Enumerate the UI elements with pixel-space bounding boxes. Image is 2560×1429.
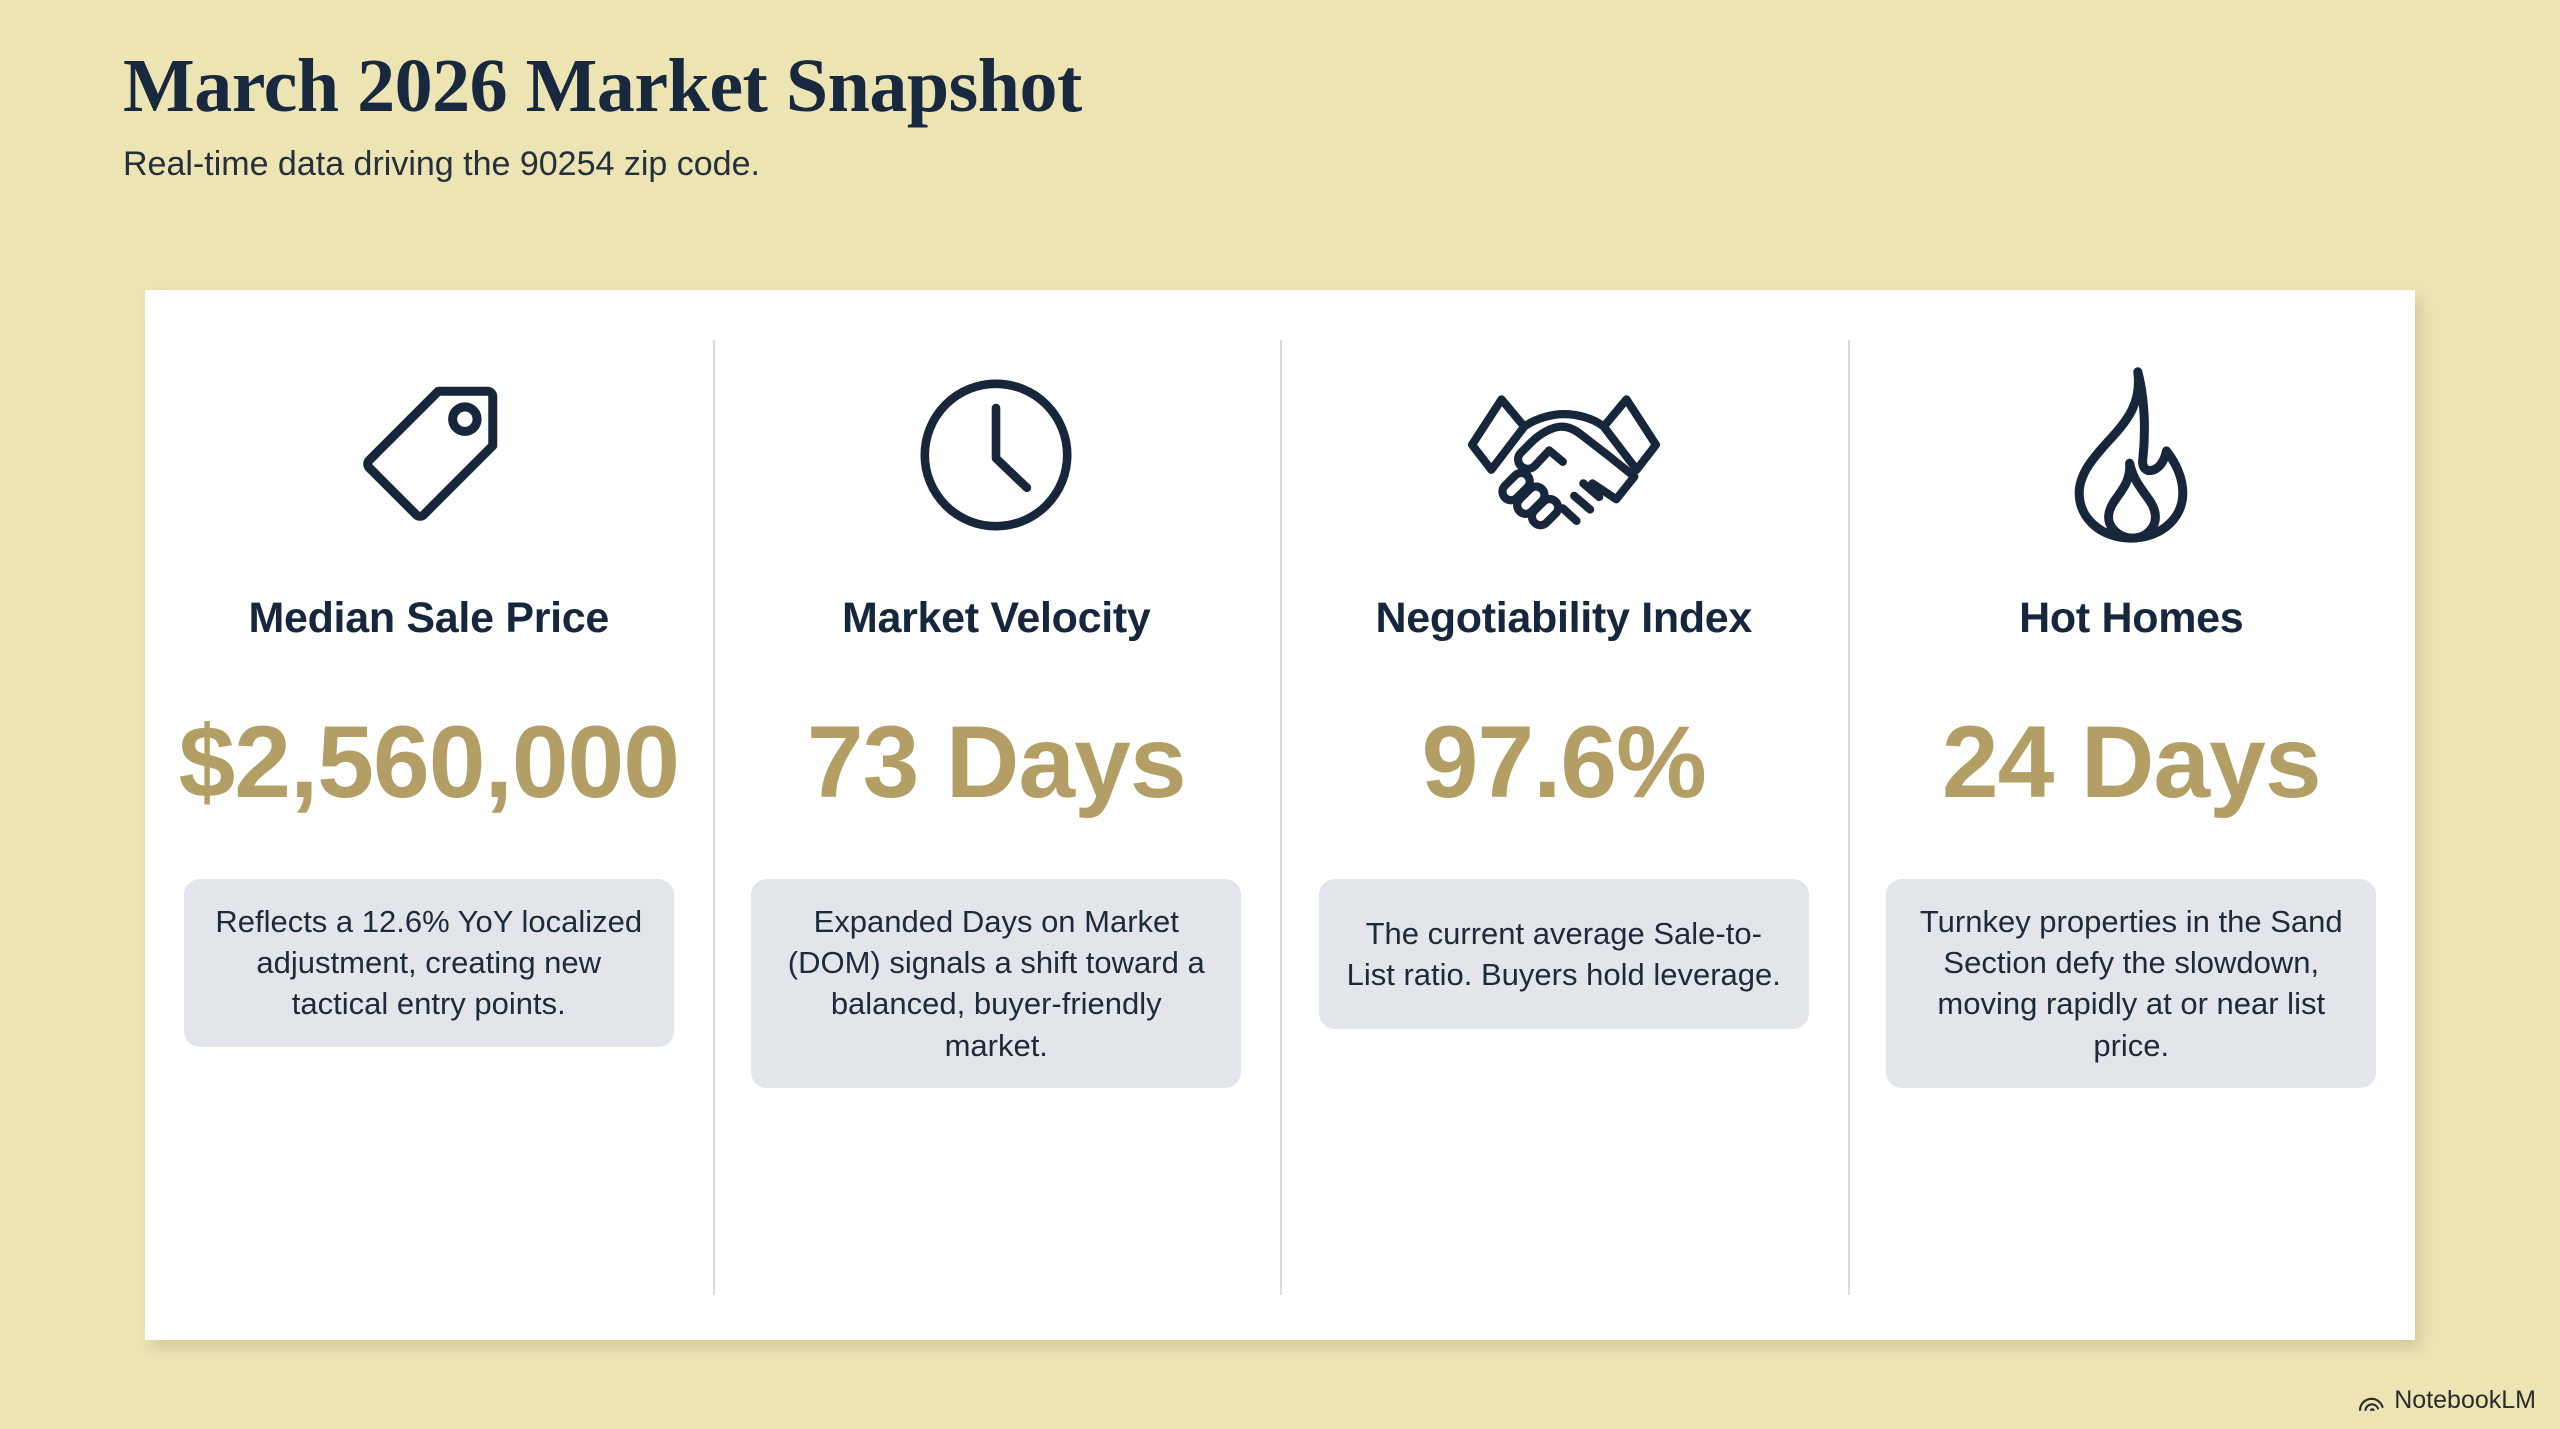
page-title: March 2026 Market Snapshot <box>123 48 1723 124</box>
metric-label: Market Velocity <box>842 594 1151 643</box>
metric-card-hot-homes: Hot Homes 24 Days Turnkey properties in … <box>1848 290 2416 1340</box>
price-tag-icon <box>344 350 514 560</box>
page-subtitle: Real-time data driving the 90254 zip cod… <box>123 144 1723 185</box>
metric-card-median-sale-price: Median Sale Price $2,560,000 Reflects a … <box>145 290 713 1340</box>
notebooklm-logo-icon <box>2358 1390 2385 1412</box>
handshake-icon <box>1455 350 1673 560</box>
metric-label: Negotiability Index <box>1375 594 1752 643</box>
notebooklm-label: NotebookLM <box>2394 1386 2536 1415</box>
metric-caption: The current average Sale-to-List ratio. … <box>1319 879 1809 1029</box>
clock-icon <box>910 350 1082 560</box>
metric-label: Median Sale Price <box>248 594 609 643</box>
metric-caption: Turnkey properties in the Sand Section d… <box>1886 879 2376 1088</box>
metric-caption: Expanded Days on Market (DOM) signals a … <box>751 879 1241 1088</box>
metric-label: Hot Homes <box>2019 594 2243 643</box>
metric-value: 73 Days <box>807 711 1186 813</box>
flame-icon <box>2056 350 2206 560</box>
metric-value: 24 Days <box>1942 711 2321 813</box>
metric-card-negotiability-index: Negotiability Index 97.6% The current av… <box>1280 290 1848 1340</box>
notebooklm-watermark: NotebookLM <box>2358 1386 2536 1415</box>
metric-value: 97.6% <box>1422 711 1706 813</box>
header: March 2026 Market Snapshot Real-time dat… <box>123 48 1723 185</box>
metric-value: $2,560,000 <box>179 711 680 813</box>
metrics-panel: Median Sale Price $2,560,000 Reflects a … <box>145 290 2415 1340</box>
metric-caption: Reflects a 12.6% YoY localized adjustmen… <box>184 879 674 1047</box>
metric-card-market-velocity: Market Velocity 73 Days Expanded Days on… <box>713 290 1281 1340</box>
